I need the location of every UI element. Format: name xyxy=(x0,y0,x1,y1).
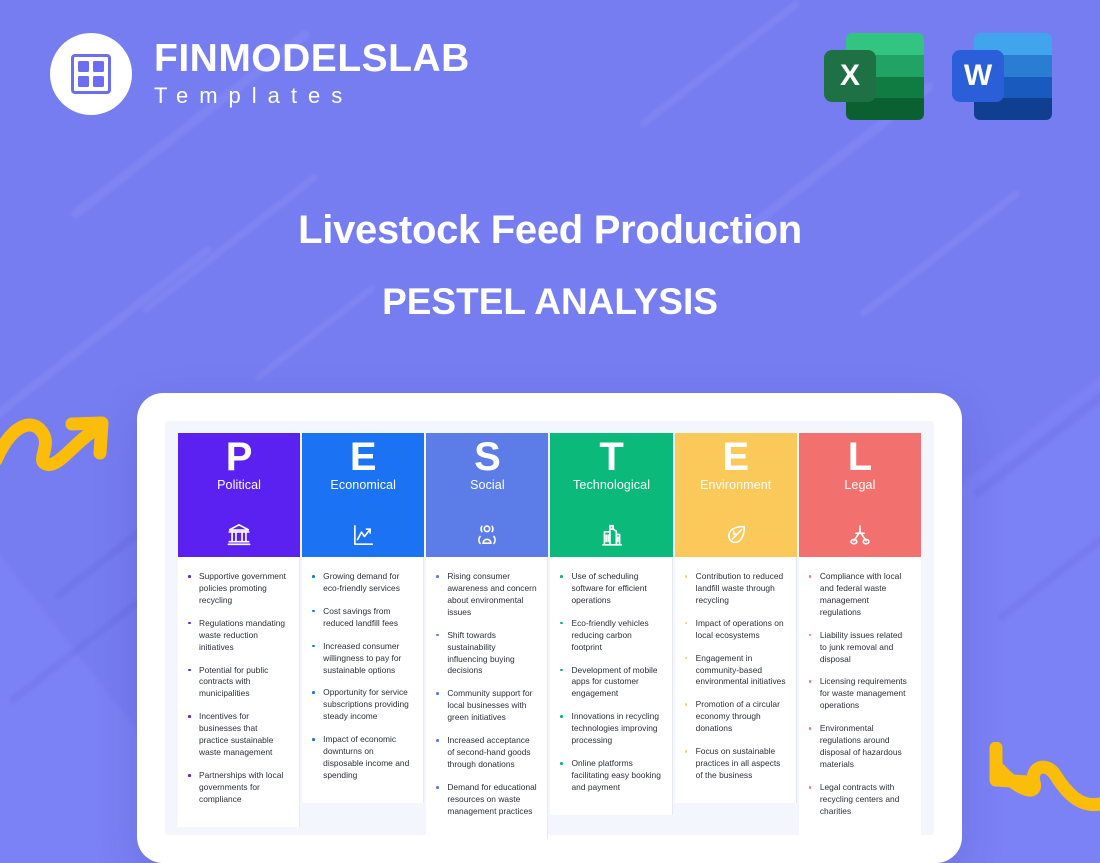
pestel-column-legal: L Legal Compliance with local and federa… xyxy=(799,433,921,839)
list-item: Partnerships with local governments for … xyxy=(186,770,289,806)
pestel-letter: T xyxy=(599,437,623,478)
pestel-body-technological: Use of scheduling software for efficient… xyxy=(550,557,672,815)
list-item: Licensing requirements for waste managem… xyxy=(807,676,911,712)
list-item: Legal contracts with recycling centers a… xyxy=(807,782,911,818)
pestel-letter: P xyxy=(226,437,253,478)
device-card: P Political Supportive government polici… xyxy=(137,393,962,863)
excel-icon[interactable]: X xyxy=(824,28,924,120)
brand-subtitle: Templates xyxy=(154,83,470,109)
leaf-icon xyxy=(675,512,797,557)
pestel-body-environment: Contribution to reduced landfill waste t… xyxy=(675,557,797,803)
pestel-letter: E xyxy=(350,437,377,478)
bullet-list-social: Rising consumer awareness and concern ab… xyxy=(434,571,537,818)
bank-institution-icon xyxy=(178,512,300,557)
word-badge: W xyxy=(952,50,1004,102)
pestel-body-legal: Compliance with local and federal waste … xyxy=(799,557,921,839)
list-item: Impact of economic downturns on disposab… xyxy=(310,734,413,782)
page-title: Livestock Feed Production xyxy=(0,205,1100,255)
pestel-letter: E xyxy=(722,437,749,478)
pestel-header-environment[interactable]: E Environment xyxy=(675,433,797,512)
list-item: Cost savings from reduced landfill fees xyxy=(310,606,413,630)
pestel-label: Social xyxy=(470,479,505,492)
pestel-column-economical: E Economical Growing demand for eco-frie… xyxy=(302,433,424,839)
scales-balance-icon xyxy=(799,512,921,557)
list-item: Innovations in recycling technologies im… xyxy=(558,711,661,747)
list-item: Increased acceptance of second-hand good… xyxy=(434,735,537,771)
list-item: Use of scheduling software for efficient… xyxy=(558,571,661,607)
list-item: Promotion of a circular economy through … xyxy=(683,699,786,735)
list-item: Rising consumer awareness and concern ab… xyxy=(434,571,537,619)
pestel-label: Technological xyxy=(573,479,650,492)
pestel-label: Legal xyxy=(844,479,875,492)
list-item: Growing demand for eco-friendly services xyxy=(310,571,413,595)
pestel-table: P Political Supportive government polici… xyxy=(178,433,921,839)
arrow-up-right-icon xyxy=(0,398,124,478)
pestel-body-political: Supportive government policies promoting… xyxy=(178,557,300,827)
list-item: Regulations mandating waste reduction in… xyxy=(186,618,289,654)
pestel-body-economical: Growing demand for eco-friendly services… xyxy=(302,557,424,803)
pestel-column-social: S Social Rising consumer awaren xyxy=(426,433,548,839)
list-item: Eco-friendly vehicles reducing carbon fo… xyxy=(558,618,661,654)
device-screen: P Political Supportive government polici… xyxy=(165,421,934,835)
list-item: Demand for educational resources on wast… xyxy=(434,782,537,818)
list-item: Focus on sustainable practices in all as… xyxy=(683,746,786,782)
list-item: Compliance with local and federal waste … xyxy=(807,571,911,619)
list-item: Opportunity for service subscriptions pr… xyxy=(310,687,413,723)
pestel-label: Environment xyxy=(700,479,771,492)
bullet-list-political: Supportive government policies promoting… xyxy=(186,571,289,806)
pestel-letter: S xyxy=(474,437,501,478)
office-format-icons: X W xyxy=(824,28,1052,120)
list-item: Supportive government policies promoting… xyxy=(186,571,289,607)
excel-badge: X xyxy=(824,50,876,102)
pestel-header-political[interactable]: P Political xyxy=(178,433,300,512)
people-group-icon xyxy=(426,512,548,557)
list-item: Community support for local businesses w… xyxy=(434,688,537,724)
pestel-column-political: P Political Supportive government polici… xyxy=(178,433,300,839)
page-subtitle: PESTEL ANALYSIS xyxy=(0,281,1100,323)
grid-logo-icon xyxy=(71,54,111,94)
pestel-header-legal[interactable]: L Legal xyxy=(799,433,921,512)
pestel-label: Political xyxy=(217,479,261,492)
page-header: FINMODELSLAB Templates X W xyxy=(0,0,1100,150)
list-item: Engagement in community-based environmen… xyxy=(683,653,786,689)
pestel-body-social: Rising consumer awareness and concern ab… xyxy=(426,557,548,839)
brand-name: FINMODELSLAB xyxy=(154,39,470,80)
list-item: Liability issues related to junk removal… xyxy=(807,630,911,666)
bullet-list-environment: Contribution to reduced landfill waste t… xyxy=(683,571,786,782)
pestel-header-economical[interactable]: E Economical xyxy=(302,433,424,512)
arrow-down-left-icon xyxy=(972,742,1100,826)
line-chart-icon xyxy=(302,512,424,557)
word-icon[interactable]: W xyxy=(952,28,1052,120)
list-item: Impact of operations on local ecosystems xyxy=(683,618,786,642)
bullet-list-legal: Compliance with local and federal waste … xyxy=(807,571,911,818)
factory-building-icon xyxy=(550,512,672,557)
pestel-column-technological: T Technological Us xyxy=(550,433,672,839)
list-item: Environmental regulations around disposa… xyxy=(807,723,911,771)
list-item: Contribution to reduced landfill waste t… xyxy=(683,571,786,607)
list-item: Shift towards sustainability influencing… xyxy=(434,630,537,678)
pestel-letter: L xyxy=(848,437,872,478)
list-item: Potential for public contracts with muni… xyxy=(186,665,289,701)
list-item: Increased consumer willingness to pay fo… xyxy=(310,641,413,677)
bullet-list-economical: Growing demand for eco-friendly services… xyxy=(310,571,413,782)
bullet-list-technological: Use of scheduling software for efficient… xyxy=(558,571,661,794)
pestel-header-social[interactable]: S Social xyxy=(426,433,548,512)
title-block: Livestock Feed Production PESTEL ANALYSI… xyxy=(0,205,1100,323)
pestel-header-technological[interactable]: T Technological xyxy=(550,433,672,512)
list-item: Incentives for businesses that practice … xyxy=(186,711,289,759)
pestel-label: Economical xyxy=(330,479,396,492)
logo-circle xyxy=(50,33,132,115)
list-item: Development of mobile apps for customer … xyxy=(558,665,661,701)
brand-logo: FINMODELSLAB Templates xyxy=(50,33,470,115)
list-item: Online platforms facilitating easy booki… xyxy=(558,758,661,794)
pestel-column-environment: E Environment Contribution to reduced la… xyxy=(675,433,797,839)
